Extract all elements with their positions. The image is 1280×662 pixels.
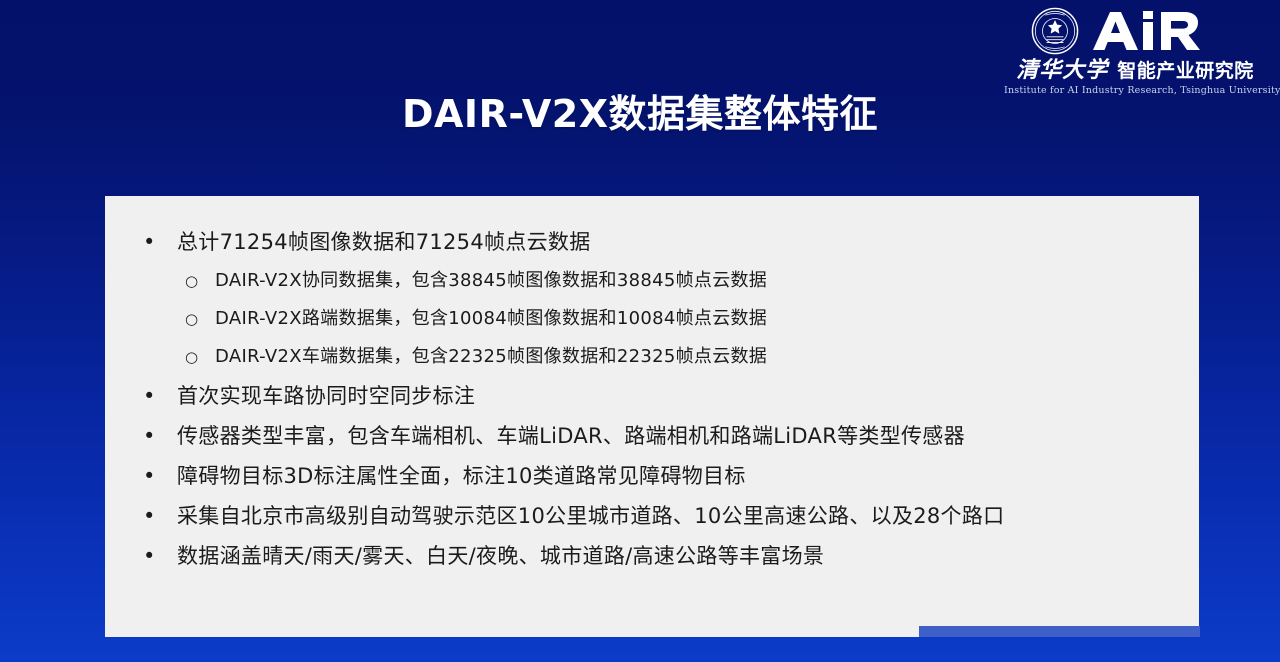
slide-canvas: 清华大学 智能产业研究院 Institute for AI Industry R…: [0, 0, 1280, 662]
bullet-item: •首次实现车路协同时空同步标注: [135, 376, 1181, 416]
logo-university-name: 清华大学: [1016, 59, 1108, 81]
air-letters-icon: [1091, 10, 1239, 52]
bullet-text: 首次实现车路协同时空同步标注: [177, 376, 1181, 416]
bullet-item: ○DAIR-V2X协同数据集，包含38845帧图像数据和38845帧点云数据: [135, 262, 1181, 300]
logo-row: [1031, 6, 1239, 56]
air-wordmark: [1091, 10, 1239, 52]
bullet-text: DAIR-V2X车端数据集，包含22325帧图像数据和22325帧点云数据: [215, 338, 1181, 376]
page-title: DAIR-V2X数据集整体特征: [0, 93, 1280, 137]
logo-chinese-name: 清华大学 智能产业研究院: [1004, 59, 1266, 81]
bullet-list: •总计71254帧图像数据和71254帧点云数据○DAIR-V2X协同数据集，包…: [105, 222, 1199, 576]
bullet-text: 采集自北京市高级别自动驾驶示范区10公里城市道路、10公里高速公路、以及28个路…: [177, 496, 1181, 536]
bullet-item: •数据涵盖晴天/雨天/雾天、白天/夜晚、城市道路/高速公路等丰富场景: [135, 536, 1181, 576]
bullet-item: •采集自北京市高级别自动驾驶示范区10公里城市道路、10公里高速公路、以及28个…: [135, 496, 1181, 536]
bullet-marker-icon: ○: [185, 300, 215, 338]
bullet-marker-icon: •: [143, 376, 177, 416]
bullet-text: 总计71254帧图像数据和71254帧点云数据: [177, 222, 1181, 262]
bullet-marker-icon: •: [143, 456, 177, 496]
bullet-item: •障碍物目标3D标注属性全面，标注10类道路常见障碍物目标: [135, 456, 1181, 496]
institution-logo: 清华大学 智能产业研究院 Institute for AI Industry R…: [1004, 6, 1266, 102]
bullet-text: 障碍物目标3D标注属性全面，标注10类道路常见障碍物目标: [177, 456, 1181, 496]
bullet-item: •总计71254帧图像数据和71254帧点云数据: [135, 222, 1181, 262]
bullet-item: •传感器类型丰富，包含车端相机、车端LiDAR、路端相机和路端LiDAR等类型传…: [135, 416, 1181, 456]
bullet-text: 传感器类型丰富，包含车端相机、车端LiDAR、路端相机和路端LiDAR等类型传感…: [177, 416, 1181, 456]
accent-bar-bottom-right: [919, 626, 1200, 637]
bullet-marker-icon: •: [143, 222, 177, 262]
bullet-marker-icon: •: [143, 536, 177, 576]
bullet-text: 数据涵盖晴天/雨天/雾天、白天/夜晚、城市道路/高速公路等丰富场景: [177, 536, 1181, 576]
bullet-marker-icon: •: [143, 416, 177, 456]
tsinghua-seal-icon: [1031, 7, 1079, 55]
bullet-marker-icon: •: [143, 496, 177, 536]
bullet-marker-icon: ○: [185, 262, 215, 300]
content-card: •总计71254帧图像数据和71254帧点云数据○DAIR-V2X协同数据集，包…: [105, 196, 1199, 637]
bullet-text: DAIR-V2X协同数据集，包含38845帧图像数据和38845帧点云数据: [215, 262, 1181, 300]
bullet-item: ○DAIR-V2X车端数据集，包含22325帧图像数据和22325帧点云数据: [135, 338, 1181, 376]
logo-institute-name: 智能产业研究院: [1117, 62, 1254, 81]
bullet-text: DAIR-V2X路端数据集，包含10084帧图像数据和10084帧点云数据: [215, 300, 1181, 338]
bullet-marker-icon: ○: [185, 338, 215, 376]
bullet-item: ○DAIR-V2X路端数据集，包含10084帧图像数据和10084帧点云数据: [135, 300, 1181, 338]
